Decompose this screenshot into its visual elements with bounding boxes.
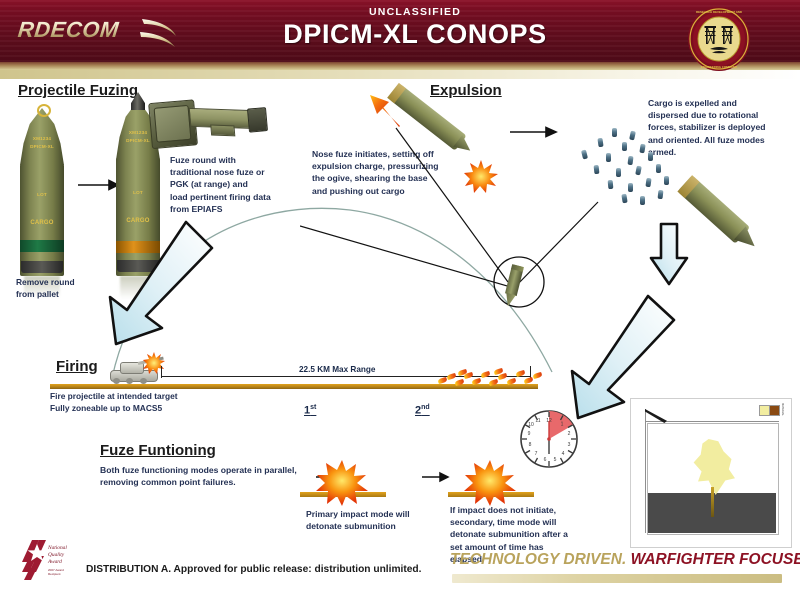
svg-text:5: 5 [554,457,557,463]
svg-text:6: 6 [544,457,547,463]
impact-flames [438,368,548,390]
rdecom-swoosh-icon [140,16,178,50]
projectile-round-unfuzed: XM1234 DPICM-XL LOT CARGO [20,108,64,276]
primary-impact-burst-icon [316,460,368,506]
section-heading-projectile-fuzing: Projectile Fuzing [18,82,138,99]
svg-text:Award: Award [47,559,62,565]
classification-label: UNCLASSIFIED [180,6,650,18]
descent-path-lines [300,92,600,322]
firing-note: Fire projectile at intended target Fully… [50,391,178,415]
rdecom-tagline: TECHNOLOGY DRIVEN. WARFIGHTER FOCUSED. [450,551,800,569]
svg-text:ENGINEERING COMMAND: ENGINEERING COMMAND [701,65,737,69]
svg-text:9: 9 [528,431,531,437]
arrow-to-secondary-mode [422,470,450,484]
banner-gold-strip [0,62,800,70]
secondary-time-burst-icon [464,460,516,506]
ordinal-second: 2nd [415,404,430,417]
lifting-lug-icon [37,104,51,117]
fuze-functioning-note: Both fuze functioning modes operate in p… [100,464,310,488]
blast-simulation-plot: MATERIAL [630,398,792,548]
slide-canvas: RDECOM UNCLASSIFIED DPICM-XL CONOPS [0,0,800,596]
page-title: DPICM-XL CONOPS [180,19,650,50]
timer-clock-icon: 1212 345 678 91011 [518,408,580,470]
svg-text:1: 1 [561,422,564,428]
svg-text:10: 10 [528,422,534,428]
primary-mode-note: Primary impact mode will detonate submun… [306,508,446,532]
svg-text:11: 11 [535,418,540,424]
sim-legend-text: MATERIAL [781,403,784,416]
arrow-to-firing [100,218,218,350]
section-heading-fuze-funtioning: Fuze Funtioning [100,442,216,459]
tagline-technology-driven: TECHNOLOGY DRIVEN. [450,551,626,568]
svg-text:Quality: Quality [48,552,65,558]
svg-text:4: 4 [562,451,565,457]
svg-text:8: 8 [529,442,532,448]
arrow-cargo-down [648,222,690,288]
sim-y-axis [645,409,646,533]
national-quality-award-logo: NationalQualityAward 2007 AwardRecipient [18,536,76,582]
range-tick-start [161,366,162,378]
svg-text:3: 3 [568,442,571,448]
sim-legend-swatch-brown [769,405,780,416]
range-label: 22.5 KM Max Range [299,365,375,374]
pallet-note: Remove round from pallet [16,277,75,301]
svg-text:2: 2 [568,431,571,437]
svg-text:National: National [47,545,67,551]
fuze-setter-device [148,87,273,157]
svg-text:Recipient: Recipient [48,572,61,576]
rotating-band-green [20,240,64,252]
rdecom-logo-text: RDECOM [17,17,121,43]
rdecom-logo: RDECOM [18,14,168,50]
tagline-warfighter-focused: WARFIGHTER FOCUSED. [631,551,800,568]
sim-jet-stem [711,487,714,517]
svg-text:RESEARCH DEVELOPMENT AND: RESEARCH DEVELOPMENT AND [696,10,742,14]
sim-x-ticks [647,421,777,422]
rdecom-seal-icon: RESEARCH DEVELOPMENT AND ENGINEERING COM… [686,6,752,72]
distribution-statement: DISTRIBUTION A. Approved for public rele… [86,564,421,575]
svg-text:7: 7 [535,451,538,457]
section-heading-firing: Firing [56,358,98,375]
header-center: UNCLASSIFIED DPICM-XL CONOPS [180,6,650,50]
footer-gold-bar [452,574,782,583]
ordinal-first: 1st [304,404,316,417]
